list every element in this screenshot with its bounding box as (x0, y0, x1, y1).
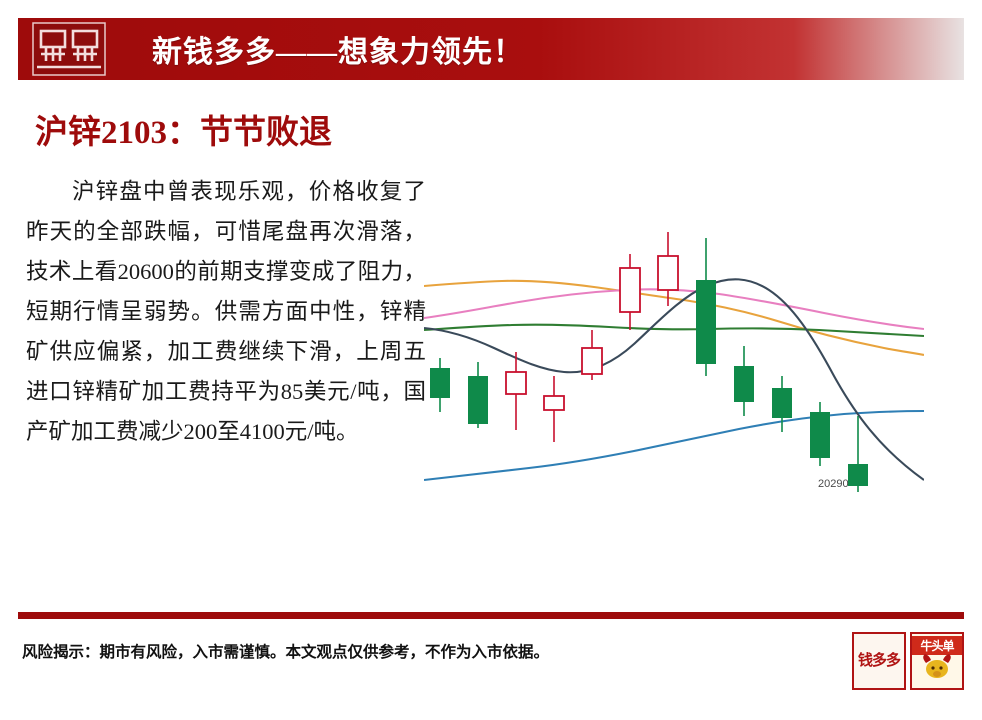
niutoudan-logo: 牛头单 (910, 632, 964, 690)
body-paragraph: 沪锌盘中曾表现乐观，价格收复了昨天的全部跌幅，可惜尾盘再次滑落，技术上看2060… (26, 172, 426, 452)
slide: 新钱多多——想象力领先！ 沪锌2103：节节败退 沪锌盘中曾表现乐观，价格收复了… (0, 0, 982, 720)
candles (430, 232, 868, 492)
footer-logos: 钱多多 牛头单 (852, 632, 964, 690)
qiandaduo-logo: 钱多多 (852, 632, 906, 690)
qiandada-seal-logo (32, 22, 106, 76)
risk-disclaimer: 风险揭示：期市有风险，入市需谨慎。本文观点仅供参考，不作为入市依据。 (22, 640, 549, 662)
bull-mascot-icon (912, 649, 962, 686)
header-title: 新钱多多——想象力领先！ (152, 27, 524, 71)
ma-lines (424, 279, 924, 480)
page-title: 沪锌2103：节节败退 (35, 105, 332, 153)
header-bar: 新钱多多——想象力领先！ (18, 18, 964, 80)
candlestick-chart (424, 180, 924, 510)
qiandaduo-logo-text: 钱多多 (858, 653, 900, 670)
last-price-label: 20290 (818, 478, 849, 490)
footer-divider (18, 612, 964, 619)
